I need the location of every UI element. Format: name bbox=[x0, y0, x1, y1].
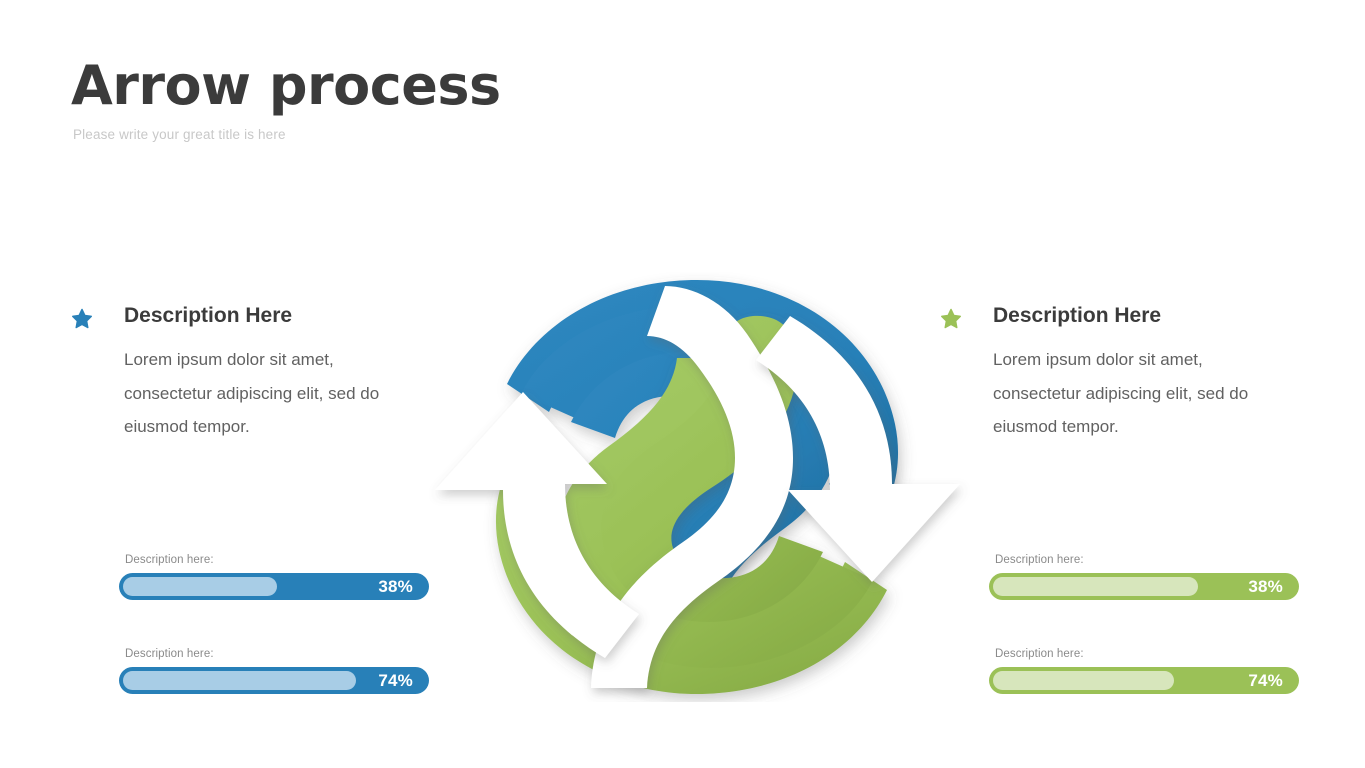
progress-bar-group: Description here: 38% bbox=[119, 554, 429, 600]
block-heading: Description Here bbox=[993, 303, 1161, 329]
progress-bar-label: Description here: bbox=[125, 648, 429, 660]
progress-bar-value: 74% bbox=[1248, 671, 1283, 691]
block-header-left: Description Here bbox=[71, 303, 431, 330]
progress-bar-group: Description here: 74% bbox=[989, 648, 1299, 694]
progress-bar-fill bbox=[993, 577, 1198, 596]
progress-bars-right: Description here: 38% Description here: … bbox=[989, 554, 1299, 694]
star-icon bbox=[71, 308, 93, 330]
page-title: Arrow process bbox=[71, 58, 501, 115]
description-block-left: Description Here Lorem ipsum dolor sit a… bbox=[71, 303, 431, 444]
progress-bar-value: 38% bbox=[378, 577, 413, 597]
block-header-right: Description Here bbox=[940, 303, 1300, 330]
block-body-text: Lorem ipsum dolor sit amet, consectetur … bbox=[124, 343, 424, 444]
description-block-right: Description Here Lorem ipsum dolor sit a… bbox=[940, 303, 1300, 444]
progress-bar-label: Description here: bbox=[995, 554, 1299, 566]
progress-bar-label: Description here: bbox=[995, 648, 1299, 660]
progress-bar-fill bbox=[123, 577, 277, 596]
progress-bar-value: 74% bbox=[378, 671, 413, 691]
progress-bar-fill bbox=[993, 671, 1174, 690]
progress-bar-track[interactable]: 38% bbox=[119, 573, 429, 600]
two-arrow-cycle-diagram bbox=[425, 272, 970, 702]
progress-bar-track[interactable]: 38% bbox=[989, 573, 1299, 600]
progress-bar-group: Description here: 74% bbox=[119, 648, 429, 694]
progress-bars-left: Description here: 38% Description here: … bbox=[119, 554, 429, 694]
page-subtitle: Please write your great title is here bbox=[73, 127, 501, 142]
block-body-text: Lorem ipsum dolor sit amet, consectetur … bbox=[993, 343, 1293, 444]
slide-header: Arrow process Please write your great ti… bbox=[71, 58, 501, 142]
progress-bar-track[interactable]: 74% bbox=[989, 667, 1299, 694]
progress-bar-value: 38% bbox=[1248, 577, 1283, 597]
progress-bar-fill bbox=[123, 671, 356, 690]
progress-bar-label: Description here: bbox=[125, 554, 429, 566]
progress-bar-track[interactable]: 74% bbox=[119, 667, 429, 694]
block-heading: Description Here bbox=[124, 303, 292, 329]
progress-bar-group: Description here: 38% bbox=[989, 554, 1299, 600]
